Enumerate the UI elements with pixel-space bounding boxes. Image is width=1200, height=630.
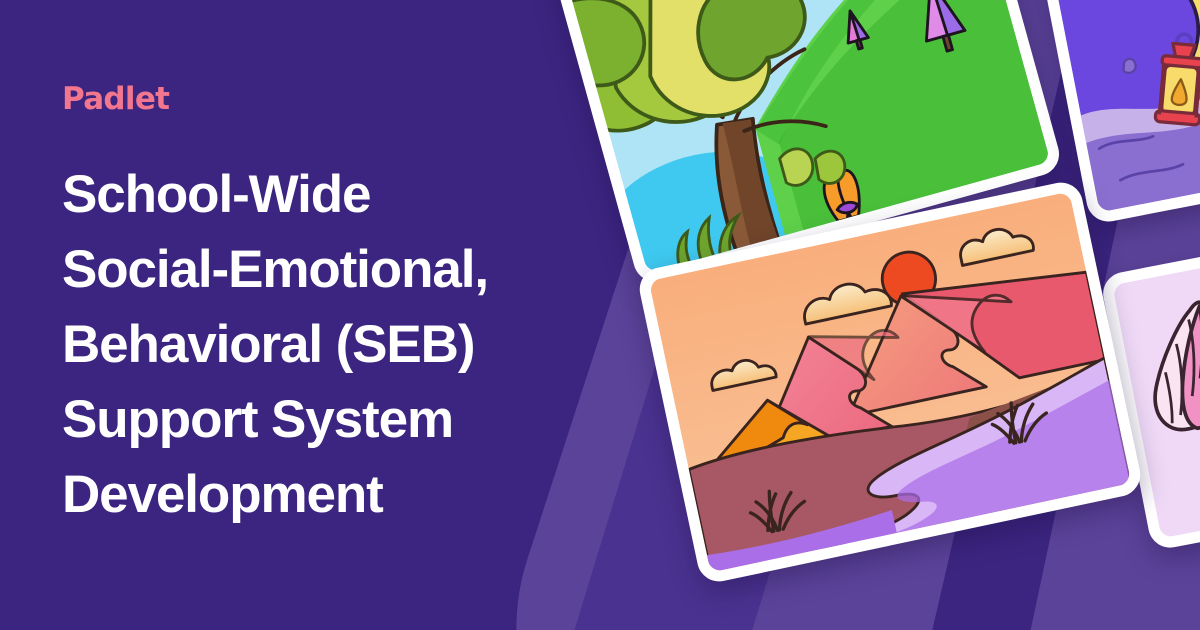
page-title: School-Wide Social-Emotional, Behavioral… (62, 157, 582, 532)
text-block: Padlet School-Wide Social-Emotional, Beh… (62, 84, 582, 532)
padlet-logo: Padlet (62, 84, 582, 115)
share-card-canvas: Padlet School-Wide Social-Emotional, Beh… (0, 0, 1200, 630)
